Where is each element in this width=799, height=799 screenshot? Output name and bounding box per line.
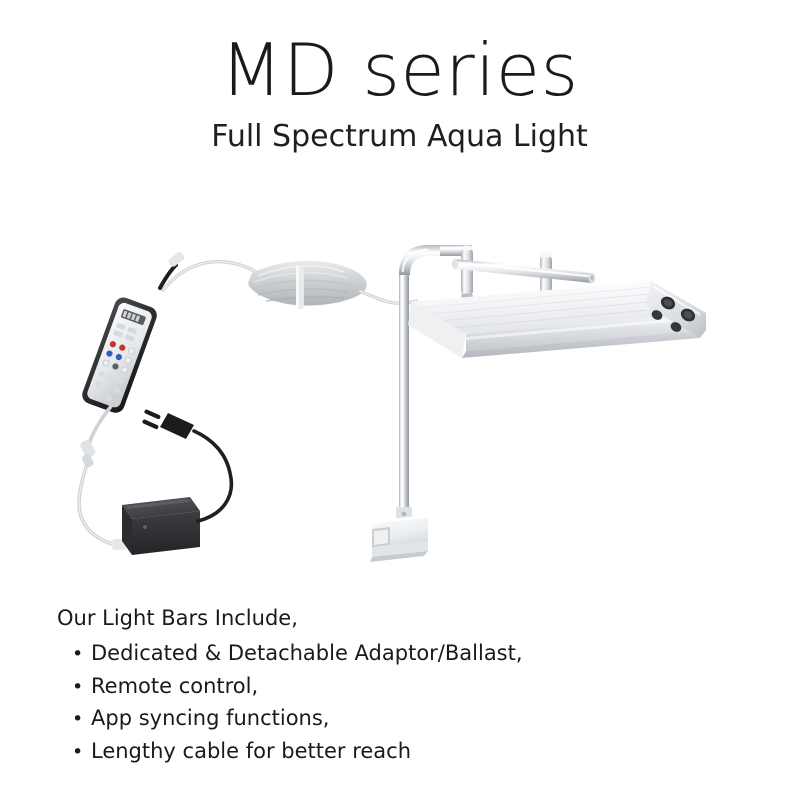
bullet-icon: • (72, 645, 91, 664)
page-title: MD series (0, 0, 799, 106)
list-item-label: Dedicated & Detachable Adaptor/Ballast, (91, 642, 523, 666)
light-fixture-assembly (370, 245, 706, 562)
power-adaptor (122, 497, 200, 555)
page-subtitle: Full Spectrum Aqua Light (0, 106, 799, 152)
clamp-bracket (370, 507, 428, 562)
list-item: • Lengthy cable for better reach (57, 740, 617, 764)
product-illustration (0, 215, 799, 600)
list-item: • Dedicated & Detachable Adaptor/Ballast… (57, 642, 617, 666)
led-light-bar (408, 281, 706, 358)
header: MD series Full Spectrum Aqua Light (0, 0, 799, 152)
controller-lead (160, 251, 185, 288)
cable-bundle (248, 261, 367, 309)
bullet-icon: • (72, 678, 91, 697)
feature-list: Our Light Bars Include, • Dedicated & De… (57, 608, 617, 772)
adaptor-cable (79, 405, 126, 550)
list-item-label: Lengthy cable for better reach (91, 740, 411, 764)
list-item-label: App syncing functions, (91, 707, 329, 731)
list-item-label: Remote control, (91, 675, 258, 699)
remote-controller (80, 295, 160, 415)
list-item: • App syncing functions, (57, 707, 617, 731)
product-photo (0, 215, 799, 600)
bullet-icon: • (72, 710, 91, 729)
list-item: • Remote control, (57, 675, 617, 699)
coiled-cable (163, 261, 416, 309)
feature-list-heading: Our Light Bars Include, (57, 608, 617, 629)
bullet-icon: • (72, 743, 91, 762)
